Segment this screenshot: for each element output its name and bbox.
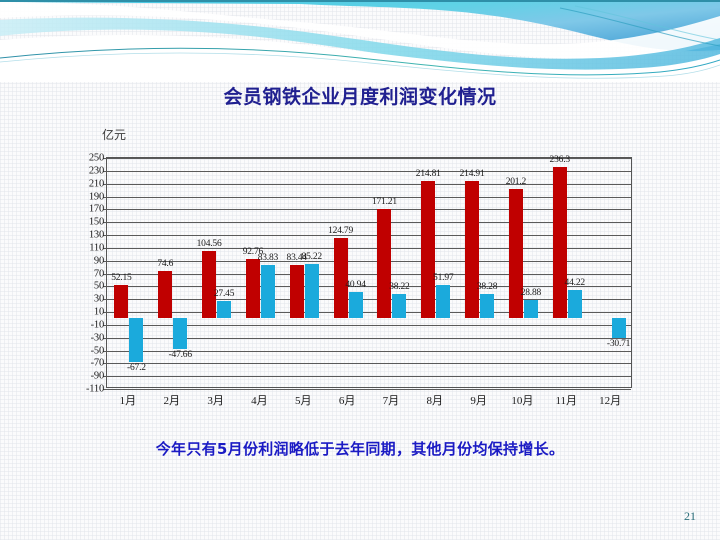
x-axis-category-label: 6月 [339,392,356,408]
bar-current-year [158,271,172,319]
y-axis-tick-label: 250 [89,153,104,164]
x-axis-category-label: 3月 [207,392,224,408]
y-axis-tick-label: 50 [94,281,104,292]
bar-group: 83.4485.22 [282,158,326,387]
bar-group: 92.7683.83 [239,158,283,387]
bar-previous-year [349,292,363,318]
bar-current-year [421,181,435,319]
bar-group: 214.9138.28 [458,158,502,387]
y-axis-tick-label: 30 [94,294,104,305]
x-axis-category-label: 10月 [511,392,533,408]
bar-previous-year [129,318,143,361]
bar-value-label: 236.3 [550,155,570,165]
bar-current-year [509,189,523,318]
bar-previous-year [436,285,450,318]
bar-value-label: 104.56 [197,239,222,249]
y-axis-tick-label: 210 [89,178,104,189]
bar-group: 74.6-47.66 [151,158,195,387]
bar-current-year [290,265,304,319]
x-axis-category-label: 1月 [120,392,137,408]
y-axis-tick-label: 130 [89,230,104,241]
bar-value-label: -30.71 [607,339,630,349]
bar-value-label: 171.21 [372,197,397,207]
bar-previous-year [173,318,187,349]
bar-current-year [202,251,216,318]
y-axis-tick-label: -10 [91,319,104,330]
y-axis-tick-label: 10 [94,307,104,318]
bar-value-label: 124.79 [328,226,353,236]
bar-group: 124.7940.94 [326,158,370,387]
x-axis-category-label: 9月 [470,392,487,408]
slide-caption: 今年只有5月份利润略低于去年同期，其他月份均保持增长。 [0,438,720,459]
y-axis-tick-label: 150 [89,217,104,228]
bar-group: 214.8151.97 [414,158,458,387]
bar-value-label: 201.2 [506,177,526,187]
bar-current-year [377,209,391,319]
bar-current-year [465,181,479,319]
bar-value-label: -47.66 [169,350,192,360]
x-axis-category-label: 8月 [427,392,444,408]
bar-group: 52.15-67.2 [107,158,151,387]
bar-group: -30.71 [589,158,633,387]
bar-previous-year [612,318,626,338]
x-axis-category-label: 12月 [599,392,621,408]
y-axis-tick-label: -30 [91,332,104,343]
bar-group: 171.2138.22 [370,158,414,387]
bar-previous-year [480,294,494,319]
slide-canvas: 会员钢铁企业月度利润变化情况 亿元 2502302101901701501301… [0,0,720,540]
y-axis-tick-label: 170 [89,204,104,215]
chart-plot-area: 2502302101901701501301109070503010-10-30… [106,157,632,388]
bar-current-year [553,167,567,319]
bar-value-label: 83.83 [258,253,278,263]
bar-group: 201.228.88 [502,158,546,387]
bar-value-label: 28.88 [521,288,541,298]
bar-value-label: 52.15 [111,273,131,283]
y-axis-tick-label: -70 [91,358,104,369]
bar-value-label: 44.22 [565,278,585,288]
bar-value-label: 38.22 [389,282,409,292]
bar-value-label: 214.91 [460,169,485,179]
y-axis-tick-label: 70 [94,268,104,279]
bar-value-label: 27.45 [214,289,234,299]
bar-current-year [246,259,260,319]
bar-value-label: 51.97 [433,273,453,283]
y-axis-tick-label: -110 [86,384,104,395]
bar-value-label: 40.94 [345,280,365,290]
header-wave-decoration [0,0,720,82]
gridline [107,389,631,390]
x-axis-category-label: 7月 [383,392,400,408]
x-axis-category-label: 11月 [555,392,577,408]
bar-previous-year [261,265,275,319]
bar-previous-year [217,301,231,319]
bar-previous-year [568,290,582,318]
bar-value-label: 214.81 [416,169,441,179]
y-axis-tick-label: 90 [94,255,104,266]
bar-chart: 2502302101901701501301109070503010-10-30… [106,157,632,388]
y-axis-tick-label: 230 [89,165,104,176]
page-number: 21 [684,509,696,524]
bar-previous-year [524,300,538,319]
x-axis-category-label: 5月 [295,392,312,408]
bar-previous-year [305,264,319,319]
bar-value-label: -67.2 [127,363,146,373]
bar-current-year [334,238,348,318]
y-axis-tick-label: 190 [89,191,104,202]
bar-group: 236.344.22 [545,158,589,387]
x-axis-category-label: 2月 [164,392,181,408]
x-axis-category-label: 4月 [251,392,268,408]
bar-value-label: 38.28 [477,282,497,292]
bar-value-label: 74.6 [157,259,173,269]
y-axis-tick-label: -50 [91,345,104,356]
y-axis-unit-label: 亿元 [102,126,126,143]
y-axis-tick-label: 110 [89,242,104,253]
bar-current-year [114,285,128,318]
page-title: 会员钢铁企业月度利润变化情况 [0,82,720,109]
y-axis-tick-label: -90 [91,371,104,382]
bar-group: 104.5627.45 [195,158,239,387]
bar-value-label: 85.22 [302,252,322,262]
bar-previous-year [392,294,406,319]
